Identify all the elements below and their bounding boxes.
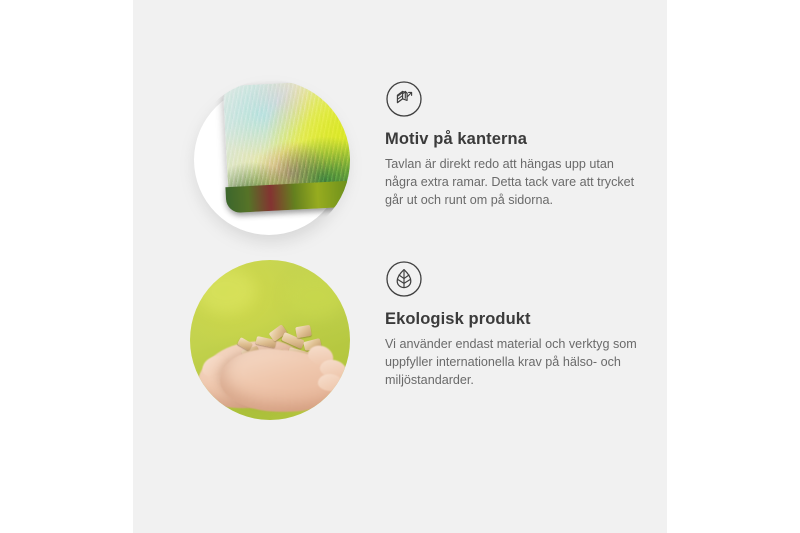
feature-block-ekologisk-produkt: Ekologisk produkt Vi använder endast mat…: [133, 260, 667, 440]
feature-title: Ekologisk produkt: [385, 310, 660, 330]
feature-title: Motiv på kanterna: [385, 130, 660, 150]
canvas-photo-clip: [190, 80, 350, 240]
wood-chips-in-hands-photo: [190, 260, 350, 420]
canvas-print-photo: [190, 80, 350, 240]
leaf-icon: [385, 260, 423, 298]
wood-chip: [295, 325, 312, 338]
feature-block-motiv-pa-kanterna: Motiv på kanterna Tavlan är direkt redo …: [133, 80, 667, 260]
screenshot-root: Motiv på kanterna Tavlan är direkt redo …: [0, 0, 800, 533]
content-panel: Motiv på kanterna Tavlan är direkt redo …: [133, 0, 667, 533]
feature-text-column-1: Motiv på kanterna Tavlan är direkt redo …: [385, 80, 660, 209]
feature-text-column-2: Ekologisk produkt Vi använder endast mat…: [385, 260, 660, 389]
canvas-wrapped-edge-icon: [385, 80, 423, 118]
canvas-print-side-edge: [225, 181, 350, 213]
photo-disc-clip: [190, 260, 350, 420]
feature-description: Vi använder endast material och verktyg …: [385, 336, 647, 390]
meadow-bokeh: [286, 274, 344, 318]
feature-description: Tavlan är direkt redo att hängas upp uta…: [385, 156, 647, 210]
meadow-bokeh: [196, 268, 256, 314]
